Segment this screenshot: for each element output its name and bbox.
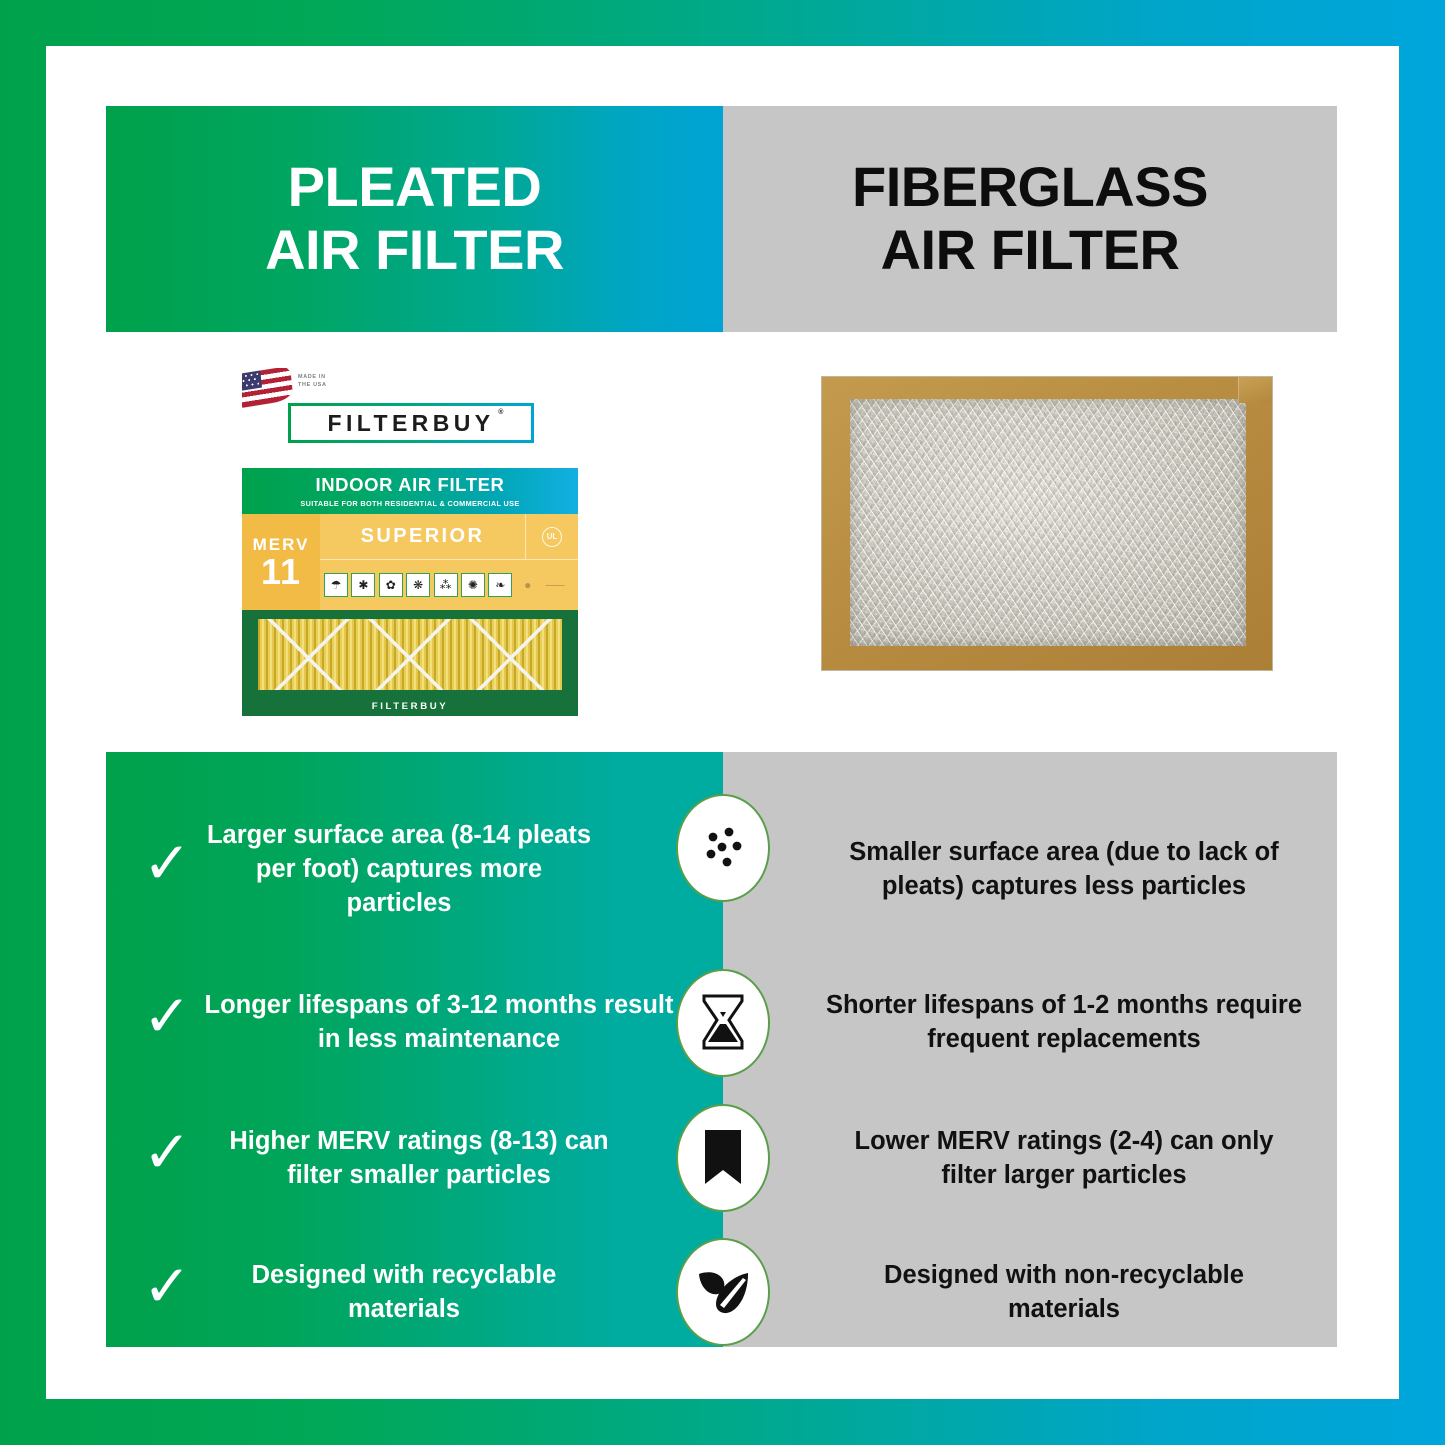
ul-certification-cell: UL	[526, 514, 578, 560]
comparison-header-band: PLEATED AIR FILTER FIBERGLASS AIR FILTER	[106, 106, 1337, 332]
insect-icon: ✱	[351, 573, 375, 597]
pleated-filter-media	[258, 619, 562, 690]
ul-mark-icon: UL	[542, 527, 562, 547]
grade-cell: SUPERIOR	[320, 514, 526, 560]
bacteria-icon: ⁂	[434, 573, 458, 597]
product-images-row: MADE IN THE USA FILTERBUY® INDOOR AIR FI…	[106, 332, 1337, 752]
us-flag-canton	[242, 371, 262, 392]
merv-info-band: MERV 11 SUPERIOR UL ☂ ✱ ✿ ❋ ⁂ ✺ ❧ ● ⸺	[242, 514, 578, 610]
fiberglass-filter-product-image	[822, 377, 1272, 670]
pleated-filter-frame: FILTERBUY	[242, 610, 578, 716]
grade-label: SUPERIOR	[361, 525, 485, 548]
indoor-air-filter-title: INDOOR AIR FILTER	[315, 474, 504, 496]
made-in-usa-text: MADE IN THE USA	[298, 373, 327, 389]
comparison-panel: ✓ Larger surface area (8-14 pleats per f…	[106, 752, 1337, 1347]
pet-dander-icon: ✺	[461, 573, 485, 597]
fiberglass-filter-media	[850, 399, 1246, 646]
merv-rating-cell: MERV 11	[242, 514, 320, 610]
bookmark-ribbon-icon	[676, 1104, 770, 1212]
pleated-header-line2: AIR FILTER	[265, 219, 564, 282]
captured-particle-icons-row: ☂ ✱ ✿ ❋ ⁂ ✺ ❧ ● ⸺	[324, 564, 574, 606]
fiberglass-header-line2: AIR FILTER	[852, 219, 1208, 282]
fiberglass-frame-corner-notch	[1238, 377, 1272, 403]
filterbuy-logo-frame: FILTERBUY®	[288, 403, 534, 443]
pleated-filter-support-grid	[258, 619, 562, 690]
header-pleated-column: PLEATED AIR FILTER	[106, 106, 723, 332]
voc-icon-faded: ⸺	[543, 573, 567, 597]
merv-value: 11	[261, 555, 301, 589]
made-in-usa-line1: MADE IN	[298, 373, 327, 381]
particles-icon	[676, 794, 770, 902]
filterbuy-wordmark: FILTERBUY®	[328, 410, 495, 437]
product-box-top-section: MADE IN THE USA FILTERBUY®	[242, 368, 578, 468]
pleated-header-line1: PLEATED	[265, 156, 564, 219]
mold-spores-icon: ❋	[406, 573, 430, 597]
filterbuy-logo-inner: FILTERBUY®	[291, 406, 531, 440]
odor-icon-faded: ●	[516, 573, 540, 597]
filterbuy-trademark-symbol: ®	[498, 409, 503, 416]
header-fiberglass-column: FIBERGLASS AIR FILTER	[723, 106, 1337, 332]
made-in-usa-line2: THE USA	[298, 381, 327, 389]
us-flag-icon	[242, 368, 293, 408]
fiberglass-header-title: FIBERGLASS AIR FILTER	[852, 156, 1208, 281]
fiberglass-header-line1: FIBERGLASS	[852, 156, 1208, 219]
indoor-air-filter-band: INDOOR AIR FILTER SUITABLE FOR BOTH RESI…	[242, 468, 578, 514]
smoke-icon: ❧	[488, 573, 512, 597]
indoor-air-filter-subtitle: SUITABLE FOR BOTH RESIDENTIAL & COMMERCI…	[300, 499, 519, 508]
pleated-header-title: PLEATED AIR FILTER	[265, 156, 564, 281]
center-icon-column	[106, 752, 1337, 1347]
hourglass-icon	[676, 969, 770, 1077]
pollen-icon: ✿	[379, 573, 403, 597]
dust-icon: ☂	[324, 573, 348, 597]
filterbuy-bottom-wordmark: FILTERBUY	[242, 701, 578, 712]
pleated-filter-product-image: MADE IN THE USA FILTERBUY® INDOOR AIR FI…	[242, 368, 578, 716]
recycle-leaf-icon	[676, 1238, 770, 1346]
